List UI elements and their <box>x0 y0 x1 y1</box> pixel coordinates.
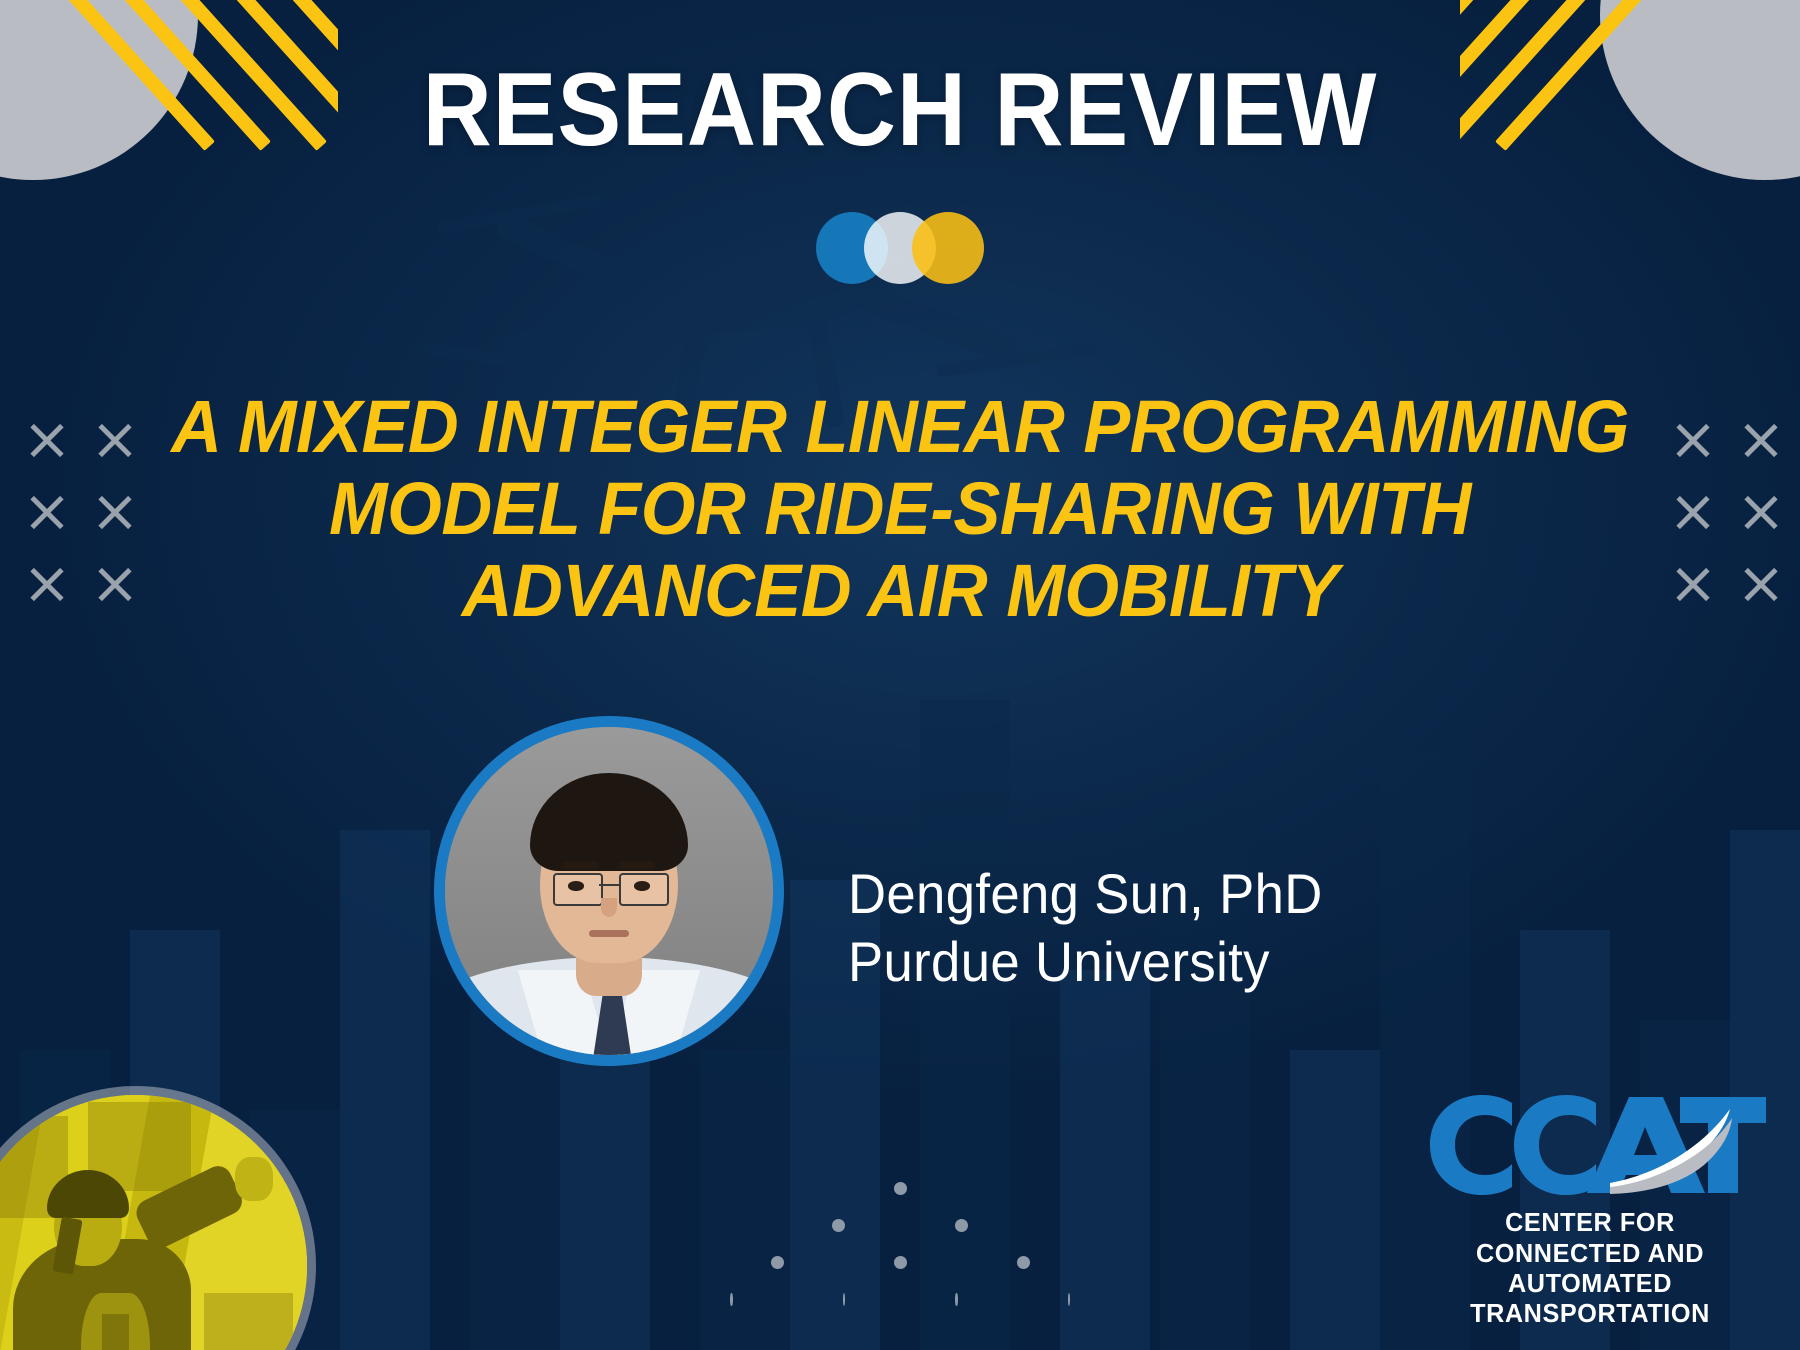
pattern-dot <box>832 1219 845 1232</box>
pattern-dot <box>894 1182 907 1195</box>
x-mark-icon <box>1744 495 1778 529</box>
pattern-dot <box>955 1293 958 1306</box>
portrait-photo <box>445 727 773 1055</box>
dot-triangle-pattern <box>730 1182 1070 1306</box>
pattern-dot <box>1068 1293 1071 1306</box>
tri-circle-logo <box>816 212 984 284</box>
x-mark-icon <box>1744 567 1778 601</box>
x-mark-icon <box>98 495 132 529</box>
ccat-logo: CENTER FOR CONNECTED AND AUTOMATED TRANS… <box>1414 1087 1766 1328</box>
x-mark-icon <box>30 567 64 601</box>
x-mark-icon <box>30 423 64 457</box>
pattern-dot <box>1017 1256 1030 1269</box>
presentation-subtitle: A MIXED INTEGER LINEAR PROGRAMMING MODEL… <box>150 386 1651 632</box>
gold-circle <box>912 212 984 284</box>
pattern-dot <box>843 1293 846 1306</box>
pattern-dot <box>894 1256 907 1269</box>
x-mark-icon <box>30 495 64 529</box>
page-title: RESEARCH REVIEW <box>72 58 1728 162</box>
x-mark-icon <box>1676 423 1710 457</box>
x-mark-icon <box>1744 423 1778 457</box>
speaker-portrait <box>434 716 784 1066</box>
x-pattern-grid-left <box>30 423 166 601</box>
x-mark-icon <box>1676 567 1710 601</box>
ccat-tagline-line2: AUTOMATED TRANSPORTATION <box>1419 1268 1760 1328</box>
speaker-name: Dengfeng Sun, PhD <box>848 860 1323 928</box>
x-mark-icon <box>98 423 132 457</box>
rideshare-photo-circle <box>0 1086 316 1350</box>
research-review-slide: RESEARCH REVIEW A MIXED INTEGER LINEAR P… <box>0 0 1800 1350</box>
speaker-info: Dengfeng Sun, PhD Purdue University <box>848 860 1323 997</box>
ccat-wordmark-icon <box>1414 1087 1766 1205</box>
pattern-dot <box>730 1293 733 1306</box>
x-mark-icon <box>1676 495 1710 529</box>
ccat-tagline-line1: CENTER FOR CONNECTED AND <box>1419 1207 1760 1267</box>
x-pattern-grid-right <box>1676 423 1800 601</box>
pattern-dot <box>955 1219 968 1232</box>
ccat-tagline: CENTER FOR CONNECTED AND AUTOMATED TRANS… <box>1419 1207 1760 1328</box>
pattern-dot <box>771 1256 784 1269</box>
x-mark-icon <box>98 567 132 601</box>
speaker-affiliation: Purdue University <box>848 928 1323 996</box>
